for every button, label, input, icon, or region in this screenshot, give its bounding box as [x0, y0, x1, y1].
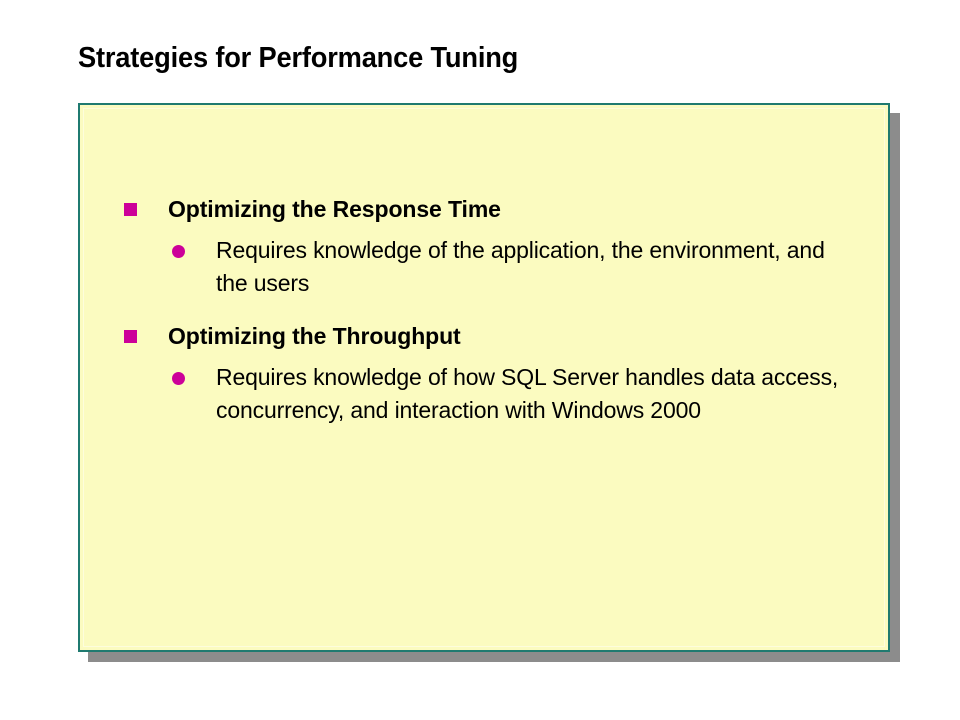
presentation-slide: Strategies for Performance Tuning Optimi…: [0, 0, 960, 720]
round-bullet-icon: [172, 245, 185, 258]
list-item: Requires knowledge of how SQL Server han…: [124, 361, 854, 427]
list-item: Optimizing the Throughput: [124, 320, 854, 352]
list-item-label: Requires knowledge of how SQL Server han…: [216, 361, 854, 427]
list-item-label: Optimizing the Throughput: [168, 320, 854, 352]
list-item: Optimizing the Response Time: [124, 193, 854, 225]
list-item-label: Requires knowledge of the application, t…: [216, 234, 854, 300]
content-panel: Optimizing the Response Time Requires kn…: [78, 103, 890, 652]
round-bullet-icon: [172, 372, 185, 385]
bullet-list: Optimizing the Response Time Requires kn…: [80, 105, 888, 650]
square-bullet-icon: [124, 330, 137, 343]
page-title: Strategies for Performance Tuning: [78, 38, 849, 82]
list-item: Requires knowledge of the application, t…: [124, 234, 854, 300]
square-bullet-icon: [124, 203, 137, 216]
list-item-label: Optimizing the Response Time: [168, 193, 854, 225]
